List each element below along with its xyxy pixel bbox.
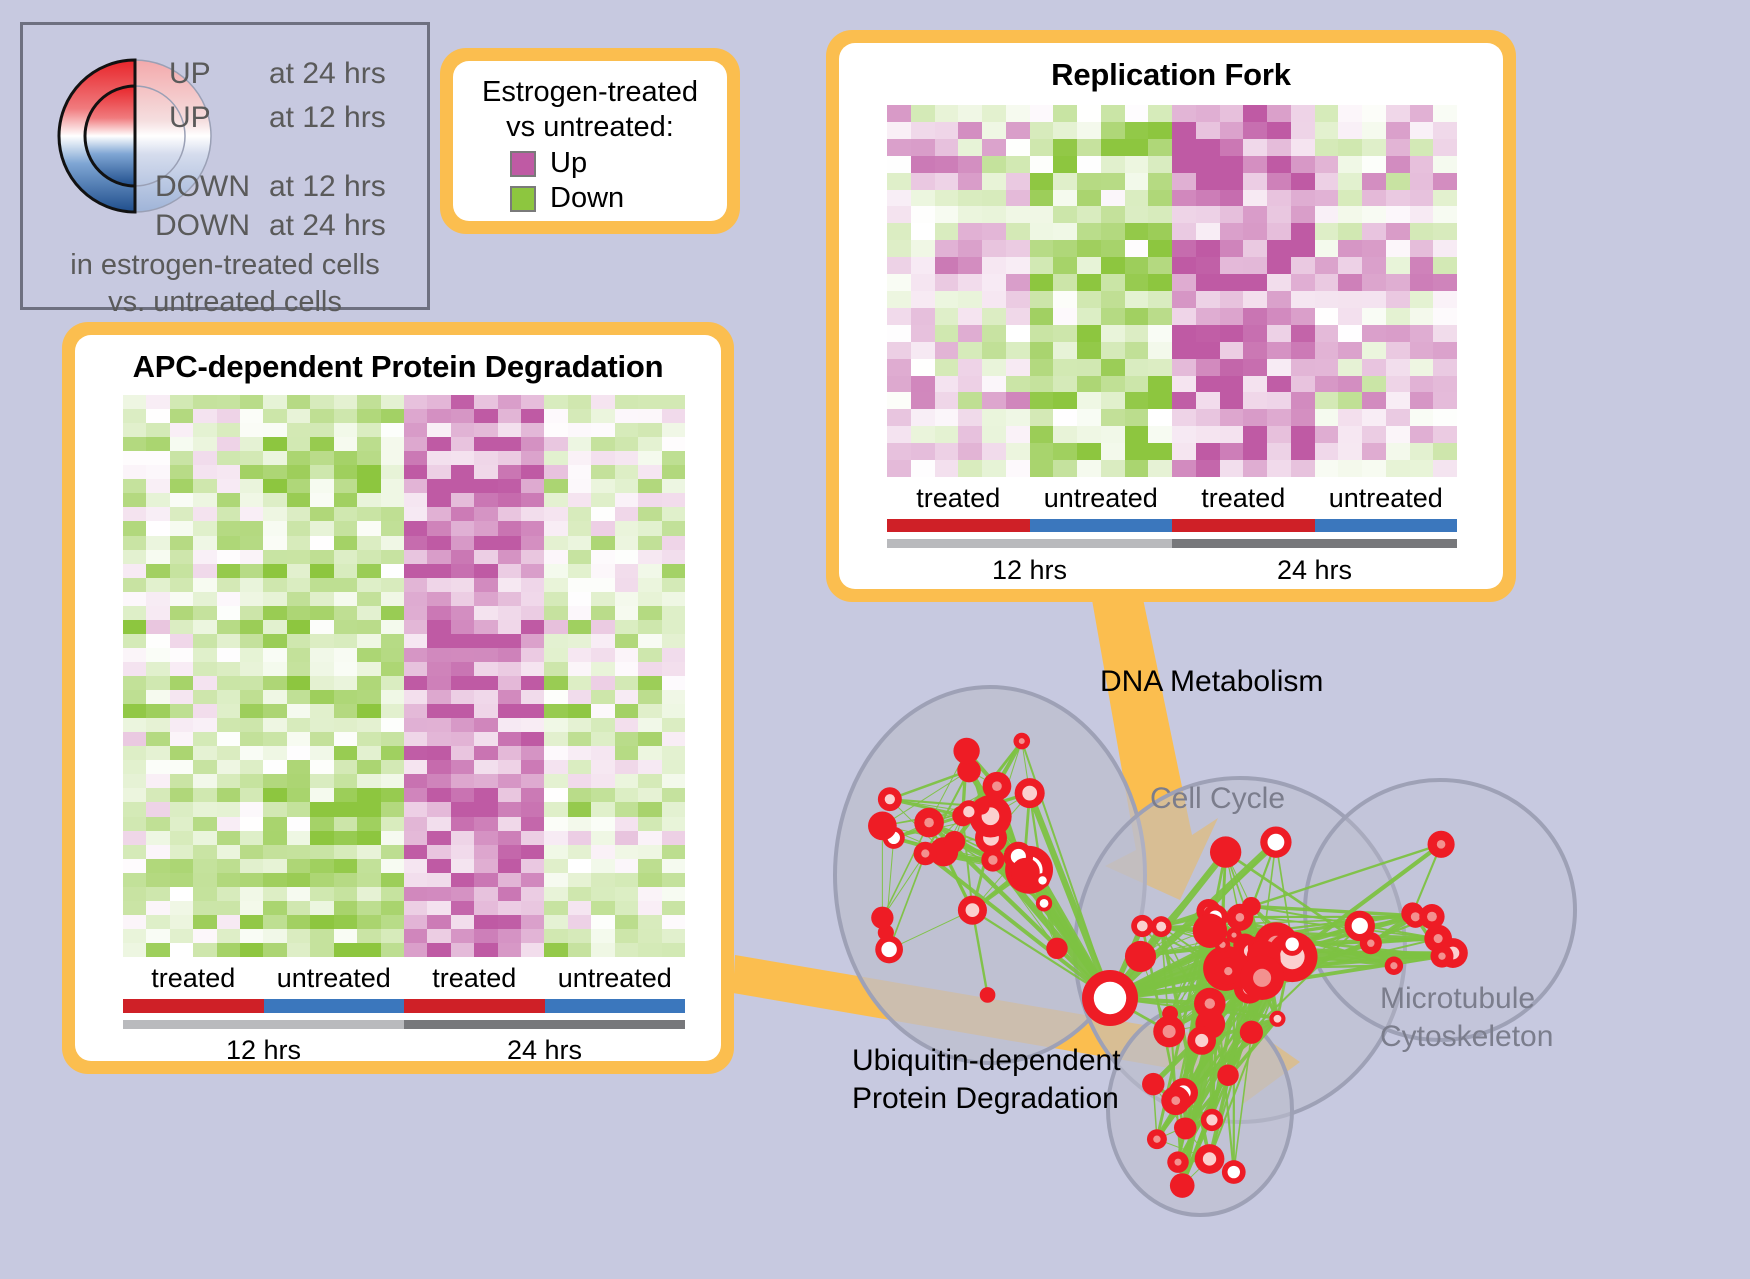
- network-node: [1161, 1086, 1190, 1115]
- network-node: [1281, 933, 1304, 956]
- panel-replication-fork: Replication Fork treated untreated treat…: [826, 30, 1516, 602]
- cluster-label-dna-metabolism: DNA Metabolism: [1100, 663, 1323, 701]
- network-node: [1046, 938, 1067, 959]
- network-node: [1385, 957, 1403, 975]
- apc-group-label-1: untreated: [264, 963, 405, 994]
- rf-group-label-3: untreated: [1315, 483, 1458, 514]
- network-node: [1201, 1109, 1223, 1131]
- apc-group-labels: treated untreated treated untreated: [123, 963, 685, 994]
- network-node: [981, 848, 1004, 871]
- network-node: [957, 800, 980, 823]
- apc-title: APC-dependent Protein Degradation: [75, 335, 721, 385]
- network-node: [1217, 1065, 1238, 1086]
- network-node: [1240, 1021, 1263, 1044]
- rf-time-label-1: 24 hrs: [1172, 555, 1457, 586]
- network-node: [980, 987, 996, 1003]
- network-node: [1215, 958, 1242, 985]
- network-node: [1193, 914, 1227, 948]
- network-node: [1147, 1129, 1167, 1149]
- apc-group-label-0: treated: [123, 963, 264, 994]
- network-node: [1187, 1026, 1216, 1055]
- network-node: [1153, 1016, 1185, 1048]
- network-node: [1131, 915, 1153, 937]
- network-node: [944, 831, 966, 853]
- network-node: [1125, 941, 1156, 972]
- network-node: [1036, 895, 1052, 911]
- network-node: [914, 808, 944, 838]
- network-node: [1013, 733, 1030, 750]
- network-node: [1174, 1118, 1193, 1137]
- rf-time-label-0: 12 hrs: [887, 555, 1172, 586]
- rf-treatment-color-bar: [887, 519, 1457, 532]
- network-node: [1222, 1160, 1246, 1184]
- rf-group-labels: treated untreated treated untreated: [887, 483, 1457, 514]
- network-node: [871, 907, 893, 929]
- apc-time-color-bar: [123, 1020, 685, 1029]
- network-node: [878, 787, 902, 811]
- apc-group-label-2: treated: [404, 963, 545, 994]
- cluster-label-cell-cycle: Cell Cycle: [1150, 780, 1285, 818]
- rf-group-label-1: untreated: [1030, 483, 1173, 514]
- replication-fork-title: Replication Fork: [839, 43, 1503, 93]
- network-node: [1082, 970, 1138, 1026]
- heatmap-replication-fork: [887, 105, 1457, 477]
- heatmap-apc: [123, 395, 685, 957]
- network-node: [958, 896, 987, 925]
- network-node: [1428, 831, 1455, 858]
- panel-apc-dependent-protein-degradation: APC-dependent Protein Degradation treate…: [62, 322, 734, 1074]
- rf-time-color-bar: [887, 539, 1457, 548]
- network-node: [1170, 1173, 1195, 1198]
- apc-treatment-color-bar: [123, 999, 685, 1013]
- rf-time-labels: 12 hrs 24 hrs: [887, 555, 1457, 586]
- apc-time-label-1: 24 hrs: [404, 1035, 685, 1061]
- network-node: [1151, 916, 1172, 937]
- pathway-network-graph: [800, 620, 1750, 1279]
- network-node: [1260, 826, 1291, 857]
- network-node: [1240, 956, 1284, 1000]
- network-node: [1142, 1073, 1164, 1095]
- apc-time-labels: 12 hrs 24 hrs: [123, 1035, 685, 1061]
- network-node: [953, 738, 979, 764]
- rf-group-label-2: treated: [1172, 483, 1315, 514]
- network-node: [1015, 778, 1045, 808]
- network-node: [1195, 1144, 1225, 1174]
- network-node: [868, 811, 897, 840]
- cluster-label-ubiquitin-protein-degradation: Ubiquitin-dependent Protein Degradation: [852, 1042, 1121, 1118]
- network-node: [1167, 1151, 1189, 1173]
- network-node: [1269, 1011, 1285, 1027]
- apc-time-label-0: 12 hrs: [123, 1035, 404, 1061]
- network-node: [1419, 904, 1444, 929]
- network-node: [914, 842, 938, 866]
- rf-group-label-0: treated: [887, 483, 1030, 514]
- network-node: [1424, 925, 1452, 953]
- apc-group-label-3: untreated: [545, 963, 686, 994]
- network-node: [1011, 858, 1040, 887]
- cluster-label-microtubule-cytoskeleton: Microtubule Cytoskeleton: [1380, 980, 1530, 1056]
- network-node: [1242, 897, 1261, 916]
- network-node: [1210, 836, 1241, 867]
- network-node: [1360, 932, 1382, 954]
